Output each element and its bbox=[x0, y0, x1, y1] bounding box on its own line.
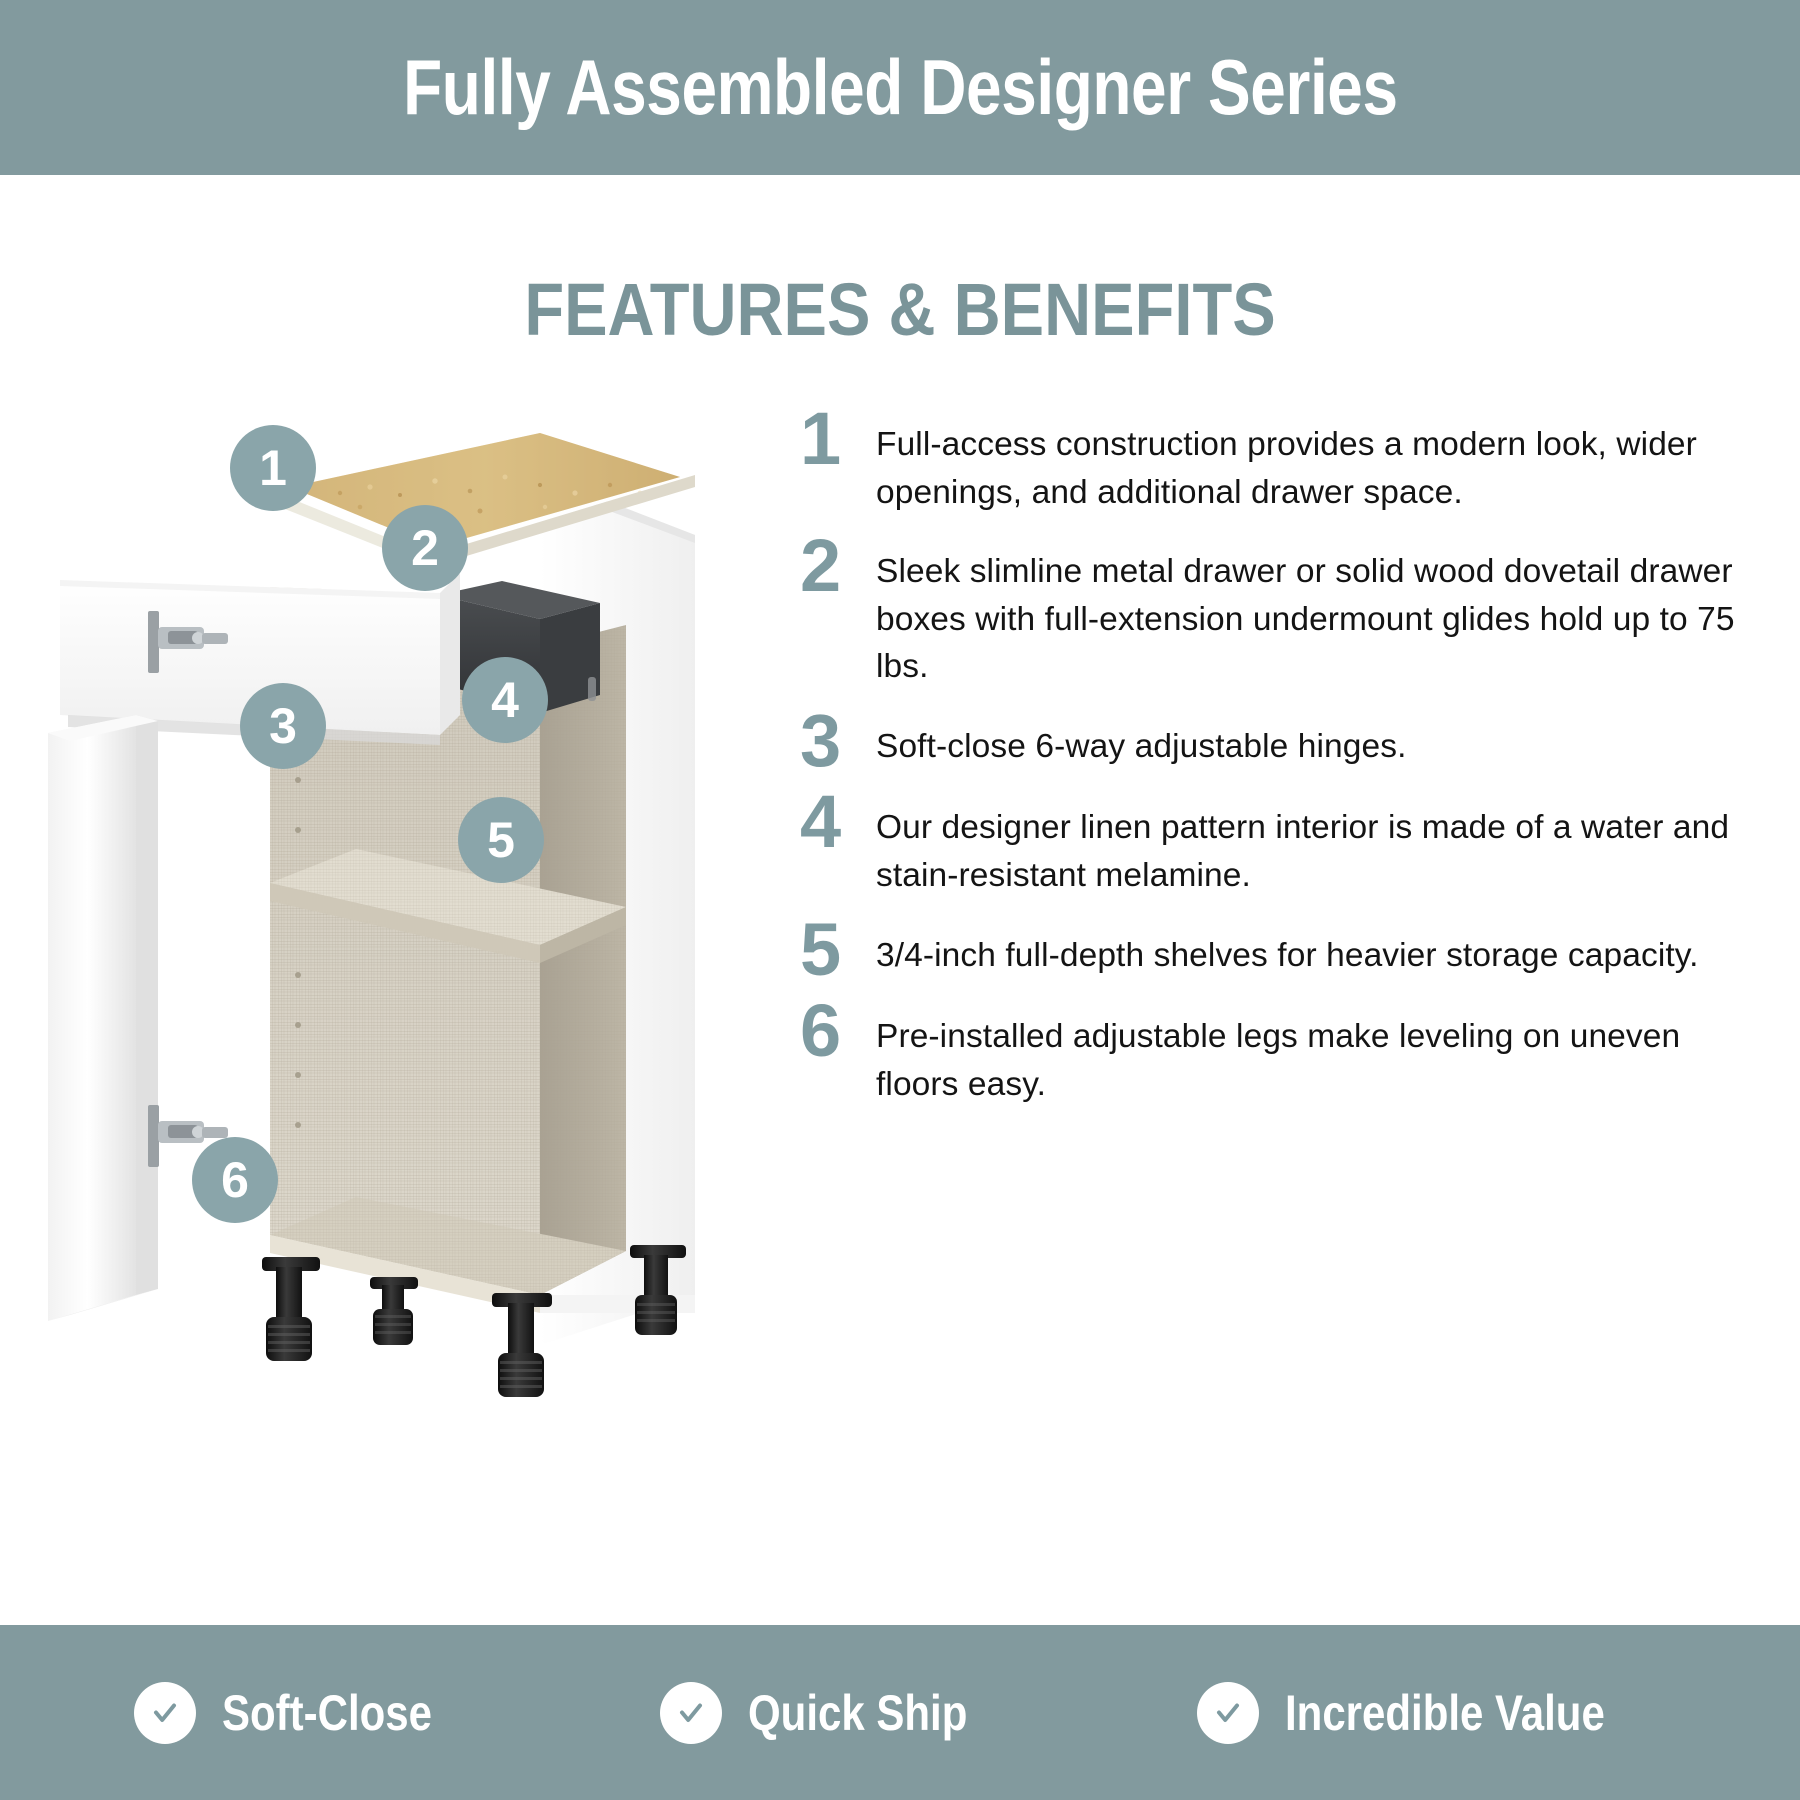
feature-4-number: 4 bbox=[800, 790, 876, 854]
feature-4-text: Our designer linen pattern interior is m… bbox=[876, 790, 1760, 899]
page-root: Fully Assembled Designer Series FEATURES… bbox=[0, 0, 1800, 1800]
feature-item-5: 5 3/4-inch full-depth shelves for heavie… bbox=[800, 918, 1760, 982]
main-content: FEATURES & BENEFITS bbox=[0, 175, 1800, 1625]
feature-5-text: 3/4-inch full-depth shelves for heavier … bbox=[876, 918, 1760, 980]
page-footer: Soft-Close Quick Ship Incredible Value bbox=[0, 1625, 1800, 1800]
leg-front-left bbox=[262, 1257, 320, 1361]
callout-2-number: 2 bbox=[411, 519, 439, 577]
check-icon bbox=[134, 1682, 196, 1744]
feature-5-number: 5 bbox=[800, 918, 876, 982]
feature-1-number: 1 bbox=[800, 407, 876, 471]
callout-1-number: 1 bbox=[259, 439, 287, 497]
callout-1: 1 bbox=[230, 425, 316, 511]
feature-6-number: 6 bbox=[800, 999, 876, 1063]
footer-badge-incredible-value: Incredible Value bbox=[1197, 1682, 1666, 1744]
footer-badge-quick-ship: Quick Ship bbox=[660, 1682, 1009, 1744]
feature-item-1: 1 Full-access construction provides a mo… bbox=[800, 407, 1760, 516]
feature-item-6: 6 Pre-installed adjustable legs make lev… bbox=[800, 999, 1760, 1108]
footer-badge-1-label: Soft-Close bbox=[222, 1684, 432, 1742]
callout-3: 3 bbox=[240, 683, 326, 769]
footer-badge-3-label: Incredible Value bbox=[1285, 1684, 1605, 1742]
feature-1-text: Full-access construction provides a mode… bbox=[876, 407, 1760, 516]
feature-2-number: 2 bbox=[800, 534, 876, 598]
footer-badge-soft-close: Soft-Close bbox=[134, 1682, 472, 1744]
callout-5-number: 5 bbox=[487, 811, 515, 869]
check-icon bbox=[1197, 1682, 1259, 1744]
feature-item-2: 2 Sleek slimline metal drawer or solid w… bbox=[800, 534, 1760, 691]
page-header: Fully Assembled Designer Series bbox=[0, 0, 1800, 175]
callout-6-number: 6 bbox=[221, 1151, 249, 1209]
header-title: Fully Assembled Designer Series bbox=[403, 42, 1397, 133]
callout-4-number: 4 bbox=[491, 671, 519, 729]
footer-badge-2-label: Quick Ship bbox=[748, 1684, 967, 1742]
feature-2-text: Sleek slimline metal drawer or solid woo… bbox=[876, 534, 1760, 691]
callout-2: 2 bbox=[382, 505, 468, 591]
features-list: 1 Full-access construction provides a mo… bbox=[800, 407, 1760, 1126]
feature-6-text: Pre-installed adjustable legs make level… bbox=[876, 999, 1760, 1108]
callout-5: 5 bbox=[458, 797, 544, 883]
leg-back-left bbox=[370, 1277, 418, 1345]
feature-3-number: 3 bbox=[800, 709, 876, 773]
callout-6: 6 bbox=[192, 1137, 278, 1223]
callout-3-number: 3 bbox=[269, 697, 297, 755]
feature-item-3: 3 Soft-close 6-way adjustable hinges. bbox=[800, 709, 1760, 773]
feature-item-4: 4 Our designer linen pattern interior is… bbox=[800, 790, 1760, 899]
product-image: 1 2 3 4 5 6 bbox=[40, 415, 800, 1425]
feature-3-text: Soft-close 6-way adjustable hinges. bbox=[876, 709, 1760, 771]
section-title: FEATURES & BENEFITS bbox=[108, 267, 1692, 352]
check-icon bbox=[660, 1682, 722, 1744]
callout-4: 4 bbox=[462, 657, 548, 743]
